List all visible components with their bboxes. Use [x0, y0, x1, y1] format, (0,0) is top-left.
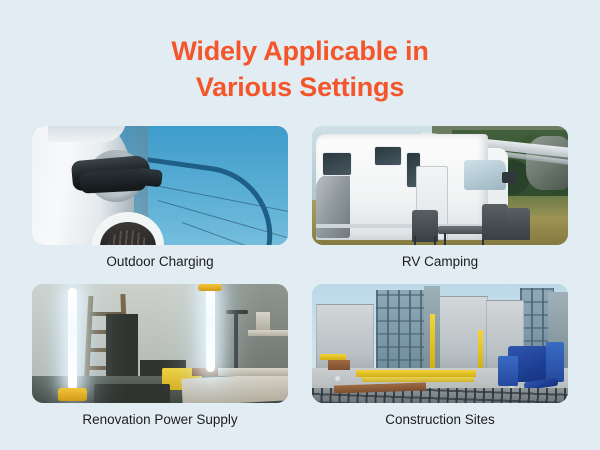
- work-light-base: [198, 284, 222, 291]
- rv-windshield: [464, 160, 506, 190]
- camp-chair: [482, 204, 508, 240]
- caption-outdoor-charging: Outdoor Charging: [32, 254, 288, 270]
- image-outdoor-charging: [32, 126, 288, 245]
- bench-item: [256, 312, 270, 330]
- camp-chair-leg: [414, 236, 416, 245]
- yellow-beam-stack: [362, 377, 474, 382]
- rv-side-mirror: [502, 172, 516, 183]
- caption-construction: Construction Sites: [312, 412, 568, 428]
- charging-connector-neck: [135, 168, 163, 188]
- gallery-item-rv-camping[interactable]: RV Camping: [312, 126, 568, 270]
- metal-frame: [106, 314, 138, 382]
- rv-bike-cover: [316, 174, 350, 238]
- material-plank: [218, 368, 288, 376]
- gallery-item-renovation[interactable]: Renovation Power Supply: [32, 284, 288, 428]
- rv-window: [374, 146, 402, 166]
- caption-rv-camping: RV Camping: [312, 254, 568, 270]
- hand-trolley-handle: [226, 310, 248, 314]
- yellow-beam-stack: [356, 370, 476, 377]
- timber-stack: [328, 360, 350, 370]
- workbench: [248, 330, 288, 336]
- work-light-base: [58, 388, 87, 401]
- hand-trolley: [234, 310, 238, 372]
- page-title-line-2: Various Settings: [0, 70, 600, 106]
- debris-container: [94, 384, 170, 403]
- gallery-item-construction[interactable]: Construction Sites: [312, 284, 568, 428]
- page-title-line-1: Widely Applicable in: [0, 34, 600, 70]
- promo-banner: Widely Applicable in Various Settings: [0, 0, 600, 450]
- camp-table-leg: [444, 233, 446, 245]
- work-light-tube: [206, 286, 215, 372]
- page-title: Widely Applicable in Various Settings: [0, 34, 600, 105]
- image-rv-camping: [312, 126, 568, 245]
- caption-renovation: Renovation Power Supply: [32, 412, 288, 428]
- work-light-tube: [68, 288, 77, 390]
- material-plank: [181, 373, 288, 403]
- rv-window: [322, 152, 352, 176]
- gallery-item-outdoor-charging[interactable]: Outdoor Charging: [32, 126, 288, 270]
- yellow-column: [478, 330, 483, 370]
- yellow-column: [430, 314, 435, 370]
- image-construction-sites: [312, 284, 568, 403]
- blue-equipment-panel: [546, 342, 564, 382]
- scenario-gallery: Outdoor Charging: [32, 126, 568, 428]
- camp-chair-leg: [434, 236, 436, 245]
- blue-equipment-base: [498, 356, 518, 386]
- image-renovation-power-supply: [32, 284, 288, 403]
- camp-chair: [506, 208, 530, 240]
